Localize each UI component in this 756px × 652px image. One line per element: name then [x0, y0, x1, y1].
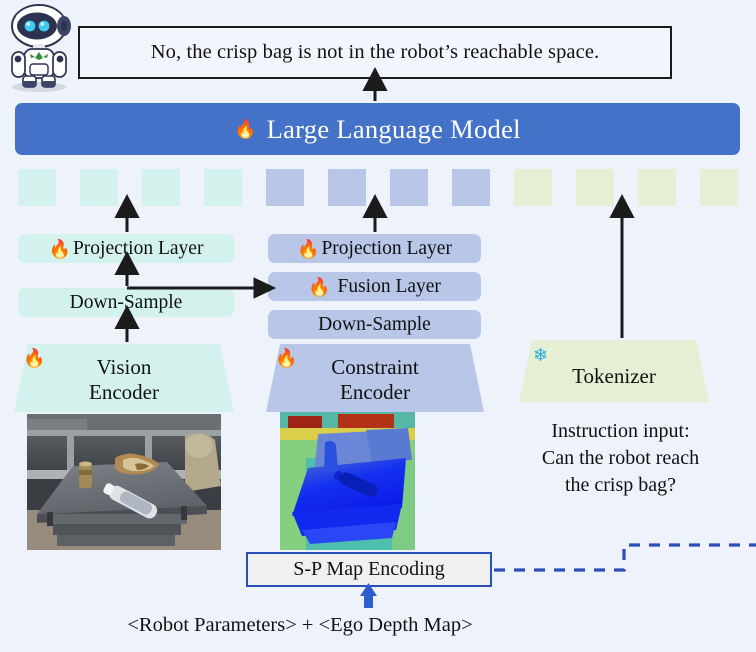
tokenizer-block: ❄ Tokenizer — [519, 340, 709, 402]
token-square — [328, 169, 366, 206]
constraint-projection-layer-label: Projection Layer — [321, 238, 452, 260]
fusion-layer-label: Fusion Layer — [337, 276, 440, 298]
bottom-caption: <Robot Parameters> + <Ego Depth Map> — [0, 614, 600, 637]
instruction-line-1: Instruction input: — [513, 418, 728, 445]
token-square — [452, 169, 490, 206]
token-square — [204, 169, 242, 206]
token-square — [142, 169, 180, 206]
architecture-diagram: No, the crisp bag is not in the robot’s … — [0, 0, 756, 652]
tokenizer-label: Tokenizer — [572, 354, 656, 389]
token-square — [700, 169, 738, 206]
flame-icon: 🔥 — [275, 349, 297, 367]
dashed-spmap-connector — [494, 545, 756, 570]
instruction-input-text: Instruction input: Can the robot reach t… — [513, 418, 728, 498]
vision-down-sample: Down-Sample — [18, 288, 234, 317]
constraint-projection-layer: 🔥 Projection Layer — [268, 234, 481, 263]
vision-encoder-label: Vision Encoder — [89, 351, 159, 405]
token-square — [266, 169, 304, 206]
instruction-line-3: the crisp bag? — [513, 472, 728, 499]
flame-icon: 🔥 — [234, 120, 256, 138]
vision-encoder-label-line1: Vision — [89, 355, 159, 380]
constraint-encoder-label: Constraint Encoder — [331, 351, 419, 405]
model-answer-text: No, the crisp bag is not in the robot’s … — [151, 41, 600, 64]
token-square — [576, 169, 614, 206]
flame-icon: 🔥 — [297, 240, 319, 258]
instruction-line-2: Can the robot reach — [513, 445, 728, 472]
vision-encoder-label-line2: Encoder — [89, 380, 159, 405]
model-answer-box: No, the crisp bag is not in the robot’s … — [78, 26, 672, 79]
constraint-down-sample: Down-Sample — [268, 310, 481, 339]
rgb-scene-photo — [27, 414, 221, 550]
vision-projection-layer: 🔥 Projection Layer — [18, 234, 234, 263]
sp-map-encoding-label: S-P Map Encoding — [293, 558, 444, 581]
flame-icon: 🔥 — [49, 240, 71, 258]
constraint-encoder-block: 🔥 Constraint Encoder — [266, 344, 484, 412]
constraint-encoder-label-line2: Encoder — [331, 380, 419, 405]
token-square — [18, 169, 56, 206]
vision-projection-layer-label: Projection Layer — [73, 238, 204, 260]
ego-depth-map-photo — [280, 412, 415, 550]
vision-encoder-block: 🔥 Vision Encoder — [14, 344, 234, 412]
large-language-model-block: 🔥 Large Language Model — [15, 103, 740, 155]
sp-map-encoding-box: S-P Map Encoding — [246, 552, 492, 587]
token-embedding-row — [0, 169, 756, 206]
token-square — [638, 169, 676, 206]
snowflake-icon: ❄ — [533, 346, 548, 364]
flame-icon: 🔥 — [308, 278, 330, 296]
token-square — [80, 169, 118, 206]
token-square — [514, 169, 552, 206]
robot-avatar-icon — [2, 2, 76, 94]
token-square — [390, 169, 428, 206]
flame-icon: 🔥 — [23, 349, 45, 367]
constraint-down-sample-label: Down-Sample — [318, 314, 431, 336]
constraint-encoder-label-line1: Constraint — [331, 355, 419, 380]
fusion-layer: 🔥 Fusion Layer — [268, 272, 481, 301]
vision-down-sample-label: Down-Sample — [70, 292, 183, 314]
llm-label: Large Language Model — [267, 114, 521, 145]
